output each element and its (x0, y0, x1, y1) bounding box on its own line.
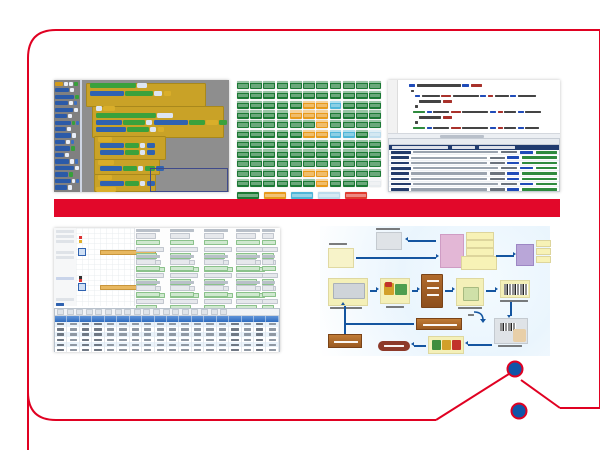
block-pill[interactable] (100, 150, 124, 155)
log-row[interactable] (389, 187, 559, 192)
planning-board[interactable] (54, 228, 280, 306)
block-pill[interactable] (96, 127, 126, 132)
plan-card[interactable] (262, 273, 278, 278)
status-cell[interactable] (343, 159, 355, 167)
status-cell[interactable] (290, 130, 302, 138)
plan-card[interactable] (204, 259, 224, 264)
block-pill[interactable] (125, 143, 139, 148)
block-statement[interactable] (100, 143, 155, 149)
block-statement[interactable] (98, 160, 114, 166)
block-pill[interactable] (90, 83, 136, 88)
status-cell[interactable] (356, 120, 368, 128)
status-cell[interactable] (343, 169, 355, 177)
table-toolbar-icon[interactable] (57, 309, 64, 315)
status-cell[interactable] (250, 169, 262, 177)
palette-row[interactable] (55, 81, 79, 86)
plan-card[interactable] (136, 292, 160, 297)
status-cell[interactable] (316, 110, 328, 118)
status-cell[interactable] (237, 81, 249, 89)
status-cell[interactable] (263, 169, 275, 177)
status-cell[interactable] (303, 130, 315, 138)
legend-alarm (345, 192, 367, 199)
planning-board-and-data-table[interactable] (54, 228, 280, 352)
plan-card[interactable] (136, 240, 160, 245)
table-toolbar-icon[interactable] (191, 309, 198, 315)
status-cell[interactable] (290, 140, 302, 148)
plan-card[interactable] (262, 266, 276, 271)
status-cell[interactable] (263, 101, 275, 109)
plan-card[interactable] (236, 299, 264, 304)
label-chip-4 (461, 256, 497, 270)
status-cell[interactable] (250, 91, 262, 99)
table-toolbar-icon[interactable] (67, 309, 74, 315)
plan-card[interactable] (236, 285, 256, 290)
status-cell[interactable] (250, 159, 262, 167)
block-statement[interactable] (96, 106, 115, 112)
block-pill[interactable] (103, 106, 115, 111)
status-cell[interactable] (263, 140, 275, 148)
block-pill[interactable] (140, 143, 145, 148)
status-cell[interactable] (277, 140, 289, 148)
block-statement[interactable] (96, 120, 227, 126)
block-pill[interactable] (137, 83, 147, 88)
status-cell[interactable] (237, 159, 249, 167)
plan-card[interactable] (170, 233, 190, 238)
visual-block-programming-editor[interactable] (54, 80, 229, 192)
block-statement[interactable] (90, 83, 147, 89)
plan-card[interactable] (204, 285, 224, 290)
plan-card[interactable] (236, 292, 260, 297)
status-cell[interactable] (237, 110, 249, 118)
status-cell[interactable] (237, 101, 249, 109)
plan-card[interactable] (262, 259, 274, 264)
status-cell[interactable] (277, 120, 289, 128)
code-token (419, 116, 441, 119)
log-console[interactable] (388, 138, 560, 192)
status-cell[interactable] (316, 179, 328, 187)
block-statement[interactable] (96, 127, 164, 133)
status-cell[interactable] (316, 120, 328, 128)
palette-row[interactable] (55, 185, 79, 190)
table-toolbar-icon[interactable] (76, 309, 83, 315)
status-cell[interactable] (330, 130, 342, 138)
status-cell[interactable] (316, 149, 328, 157)
status-cell[interactable] (237, 149, 249, 157)
block-pill[interactable] (140, 181, 145, 186)
status-cell[interactable] (369, 169, 381, 177)
status-cell[interactable] (330, 140, 342, 148)
status-cell[interactable] (263, 159, 275, 167)
block-pill[interactable] (98, 175, 112, 180)
block-pill[interactable] (150, 127, 156, 132)
node-quality-inspection (456, 278, 484, 306)
status-cell[interactable] (303, 81, 315, 89)
table-toolbar-icon[interactable] (211, 309, 218, 315)
block-statement[interactable] (96, 113, 173, 119)
status-cell[interactable] (316, 159, 328, 167)
code-editor[interactable] (388, 80, 560, 133)
status-cell[interactable] (330, 149, 342, 157)
block-pill[interactable] (164, 91, 171, 96)
block-pill[interactable] (123, 166, 137, 171)
plan-card[interactable] (136, 247, 164, 252)
plan-card[interactable] (236, 259, 256, 264)
status-cell[interactable] (316, 130, 328, 138)
status-cell[interactable] (330, 81, 342, 89)
plan-card[interactable] (204, 299, 232, 304)
status-cell[interactable] (250, 81, 262, 89)
table-toolbar-icon[interactable] (115, 309, 122, 315)
table-toolbar-icon[interactable] (86, 309, 93, 315)
plan-card[interactable] (136, 285, 156, 290)
planning-board-timeline-grid[interactable] (76, 228, 135, 306)
palette-row[interactable] (55, 172, 79, 177)
status-cell[interactable] (290, 101, 302, 109)
table-cell[interactable] (105, 347, 117, 352)
plan-card[interactable] (236, 233, 256, 238)
palette-row[interactable] (55, 152, 79, 157)
plan-card[interactable] (136, 266, 160, 271)
status-cell[interactable] (290, 169, 302, 177)
plan-card[interactable] (204, 247, 232, 252)
block-pill[interactable] (98, 160, 114, 165)
blocks-palette[interactable] (54, 80, 82, 192)
plan-card[interactable] (170, 285, 190, 290)
block-pill[interactable] (158, 127, 164, 132)
status-cell[interactable] (303, 101, 315, 109)
block-pill[interactable] (90, 91, 124, 96)
plan-card[interactable] (262, 240, 276, 245)
status-cell[interactable] (237, 169, 249, 177)
block-statement[interactable] (98, 175, 112, 181)
data-table-toolbar[interactable] (55, 309, 279, 316)
table-toolbar-icon[interactable] (220, 309, 227, 315)
plan-card[interactable] (262, 299, 278, 304)
status-cell[interactable] (277, 130, 289, 138)
data-table-body[interactable] (55, 322, 279, 352)
status-cell[interactable] (263, 179, 275, 187)
status-cell[interactable] (330, 110, 342, 118)
palette-row[interactable] (55, 159, 79, 164)
status-cell[interactable] (356, 159, 368, 167)
status-cell[interactable] (316, 81, 328, 89)
plan-card[interactable] (170, 247, 198, 252)
table-cell[interactable] (217, 347, 229, 352)
status-cell[interactable] (237, 91, 249, 99)
status-cell[interactable] (356, 179, 368, 187)
palette-row[interactable] (55, 120, 79, 125)
palette-row[interactable] (55, 107, 79, 112)
status-cell[interactable] (316, 91, 328, 99)
plan-card[interactable] (170, 266, 194, 271)
plan-card[interactable] (204, 233, 224, 238)
table-toolbar-icon[interactable] (143, 309, 150, 315)
table-toolbar-icon[interactable] (124, 309, 131, 315)
plan-card[interactable] (204, 240, 228, 245)
status-cell[interactable] (356, 81, 368, 89)
status-cell[interactable] (369, 101, 381, 109)
status-cell[interactable] (330, 179, 342, 187)
block-pill[interactable] (140, 150, 145, 155)
block-statement[interactable] (98, 137, 112, 143)
plan-card[interactable] (170, 299, 198, 304)
block-pill[interactable] (219, 120, 227, 125)
status-cell[interactable] (356, 110, 368, 118)
status-cell[interactable] (330, 91, 342, 99)
plan-card[interactable] (170, 259, 190, 264)
block-pill[interactable] (96, 120, 122, 125)
table-cell[interactable] (55, 347, 67, 352)
plan-card[interactable] (236, 266, 260, 271)
status-cell[interactable] (277, 101, 289, 109)
code-token (471, 84, 482, 87)
status-cell[interactable] (369, 120, 381, 128)
table-cell[interactable] (266, 347, 278, 352)
log-console-rows[interactable] (389, 150, 559, 192)
table-cell[interactable] (130, 347, 142, 352)
table-cell[interactable] (229, 347, 241, 352)
status-cell[interactable] (277, 169, 289, 177)
palette-row[interactable] (55, 139, 79, 144)
block-statement[interactable] (100, 150, 155, 156)
table-cell[interactable] (117, 347, 129, 352)
block-pill[interactable] (96, 113, 156, 118)
status-cell[interactable] (343, 149, 355, 157)
status-cell[interactable] (330, 120, 342, 128)
status-cell[interactable] (237, 120, 249, 128)
block-pill[interactable] (123, 120, 145, 125)
plan-card[interactable] (204, 266, 228, 271)
block-pill[interactable] (125, 181, 139, 186)
plan-card[interactable] (136, 259, 156, 264)
status-cell[interactable] (250, 140, 262, 148)
table-cell[interactable] (92, 347, 104, 352)
planning-board-toolbar[interactable] (54, 228, 77, 306)
palette-row[interactable] (55, 94, 79, 99)
status-cell[interactable] (250, 110, 262, 118)
status-cell[interactable] (369, 179, 381, 187)
status-cell[interactable] (277, 81, 289, 89)
status-cell[interactable] (250, 120, 262, 128)
status-cell[interactable] (290, 179, 302, 187)
timeline-node[interactable] (78, 283, 86, 291)
status-cell[interactable] (330, 169, 342, 177)
palette-row[interactable] (55, 178, 79, 183)
status-cell[interactable] (356, 91, 368, 99)
status-cell[interactable] (343, 130, 355, 138)
plan-card[interactable] (262, 292, 276, 297)
status-cell[interactable] (343, 110, 355, 118)
status-cell[interactable] (277, 179, 289, 187)
device-status-grid[interactable] (236, 80, 382, 192)
block-pill[interactable] (206, 120, 218, 125)
plan-card[interactable] (136, 233, 156, 238)
plan-card[interactable] (262, 285, 274, 290)
status-cell[interactable] (343, 81, 355, 89)
status-cell[interactable] (277, 159, 289, 167)
plan-card[interactable] (236, 247, 264, 252)
status-cell[interactable] (237, 179, 249, 187)
table-toolbar-icon[interactable] (95, 309, 102, 315)
status-cell[interactable] (369, 130, 381, 138)
status-cell[interactable] (303, 140, 315, 148)
status-cell[interactable] (369, 110, 381, 118)
timeline-node[interactable] (78, 248, 86, 256)
status-cell[interactable] (277, 91, 289, 99)
block-pill[interactable] (154, 120, 188, 125)
source-code-and-log-console[interactable] (388, 80, 560, 192)
block-pill[interactable] (125, 150, 139, 155)
status-cell[interactable] (356, 140, 368, 148)
status-cell[interactable] (290, 110, 302, 118)
table-cell[interactable] (179, 347, 191, 352)
status-cell[interactable] (263, 81, 275, 89)
block-pill[interactable] (154, 91, 162, 96)
status-cell[interactable] (263, 91, 275, 99)
table-toolbar-icon[interactable] (163, 309, 170, 315)
status-cell[interactable] (369, 149, 381, 157)
table-toolbar-icon[interactable] (201, 309, 208, 315)
plan-card[interactable] (236, 240, 260, 245)
block-pill[interactable] (157, 113, 173, 118)
status-cell[interactable] (303, 159, 315, 167)
block-pill[interactable] (125, 91, 153, 96)
palette-row[interactable] (55, 101, 79, 106)
status-cell[interactable] (303, 91, 315, 99)
status-cell[interactable] (356, 169, 368, 177)
block-pill[interactable] (147, 143, 155, 148)
plan-card[interactable] (136, 273, 164, 278)
block-pill[interactable] (147, 150, 155, 155)
status-cell[interactable] (237, 140, 249, 148)
status-cell[interactable] (303, 179, 315, 187)
status-cell[interactable] (369, 81, 381, 89)
label-chip-5 (536, 240, 551, 247)
status-cell[interactable] (356, 130, 368, 138)
plan-card[interactable] (236, 273, 264, 278)
block-statement[interactable] (96, 187, 116, 192)
palette-row[interactable] (55, 133, 79, 138)
table-cell[interactable] (142, 347, 154, 352)
planning-board-card-area[interactable] (136, 228, 280, 306)
status-cell[interactable] (290, 149, 302, 157)
status-cell[interactable] (303, 110, 315, 118)
status-cell[interactable] (316, 140, 328, 148)
table-cell[interactable] (254, 347, 266, 352)
table-cell[interactable] (67, 347, 79, 352)
status-cell[interactable] (330, 101, 342, 109)
table-toolbar-icon[interactable] (153, 309, 160, 315)
status-cell[interactable] (263, 149, 275, 157)
plan-card[interactable] (262, 233, 274, 238)
palette-row[interactable] (55, 88, 79, 93)
plan-card[interactable] (170, 292, 194, 297)
palette-row[interactable] (55, 114, 79, 119)
status-cell[interactable] (237, 130, 249, 138)
status-cell[interactable] (263, 110, 275, 118)
plan-card[interactable] (170, 273, 198, 278)
status-cell[interactable] (356, 149, 368, 157)
status-cell[interactable] (303, 169, 315, 177)
status-cell[interactable] (369, 159, 381, 167)
palette-row[interactable] (55, 126, 79, 131)
block-statement[interactable] (90, 91, 171, 97)
status-cell[interactable] (290, 120, 302, 128)
palette-row[interactable] (55, 146, 79, 151)
block-pill[interactable] (100, 181, 124, 186)
status-cell[interactable] (316, 101, 328, 109)
block-pill[interactable] (100, 143, 124, 148)
status-cell[interactable] (290, 91, 302, 99)
plan-card[interactable] (262, 247, 278, 252)
status-cell[interactable] (250, 149, 262, 157)
block-statement[interactable] (100, 181, 155, 187)
plan-card[interactable] (170, 240, 194, 245)
block-pill[interactable] (146, 120, 152, 125)
table-cell[interactable] (167, 347, 179, 352)
palette-row[interactable] (55, 165, 79, 170)
palette-row[interactable] (55, 191, 79, 192)
table-toolbar-icon[interactable] (182, 309, 189, 315)
plan-card[interactable] (136, 299, 164, 304)
table-cell[interactable] (192, 347, 204, 352)
status-cell[interactable] (263, 120, 275, 128)
table-cell[interactable] (204, 347, 216, 352)
block-pill[interactable] (127, 127, 149, 132)
status-cell[interactable] (356, 101, 368, 109)
status-cell[interactable] (343, 91, 355, 99)
status-cell[interactable] (369, 140, 381, 148)
status-cell[interactable] (277, 149, 289, 157)
table-toolbar-icon[interactable] (134, 309, 141, 315)
status-cell[interactable] (250, 179, 262, 187)
status-cell[interactable] (303, 120, 315, 128)
status-cell[interactable] (343, 179, 355, 187)
plan-card[interactable] (204, 292, 228, 297)
status-cell[interactable] (250, 130, 262, 138)
table-toolbar-icon[interactable] (172, 309, 179, 315)
status-cell[interactable] (330, 159, 342, 167)
block-pill[interactable] (189, 120, 205, 125)
table-cell[interactable] (155, 347, 167, 352)
status-cell[interactable] (277, 110, 289, 118)
warehouse-logistics-flowchart (320, 226, 550, 356)
table-toolbar-icon[interactable] (105, 309, 112, 315)
table-cell[interactable] (80, 347, 92, 352)
status-grid-cells[interactable] (236, 80, 382, 188)
block-pill[interactable] (100, 166, 122, 171)
data-table[interactable] (54, 308, 280, 352)
legend-in-progress (291, 192, 313, 199)
table-row[interactable] (55, 347, 279, 352)
status-cell[interactable] (290, 159, 302, 167)
status-cell[interactable] (369, 91, 381, 99)
status-cell[interactable] (343, 140, 355, 148)
plan-card[interactable] (204, 273, 232, 278)
block-pill[interactable] (98, 137, 112, 142)
status-cell[interactable] (303, 149, 315, 157)
block-pill[interactable] (96, 106, 102, 111)
status-cell[interactable] (263, 130, 275, 138)
block-pill[interactable] (96, 187, 116, 192)
block-pill[interactable] (138, 166, 143, 171)
status-cell[interactable] (316, 169, 328, 177)
status-cell[interactable] (250, 101, 262, 109)
status-cell[interactable] (290, 81, 302, 89)
table-cell[interactable] (242, 347, 254, 352)
status-cell[interactable] (343, 120, 355, 128)
status-cell[interactable] (343, 101, 355, 109)
